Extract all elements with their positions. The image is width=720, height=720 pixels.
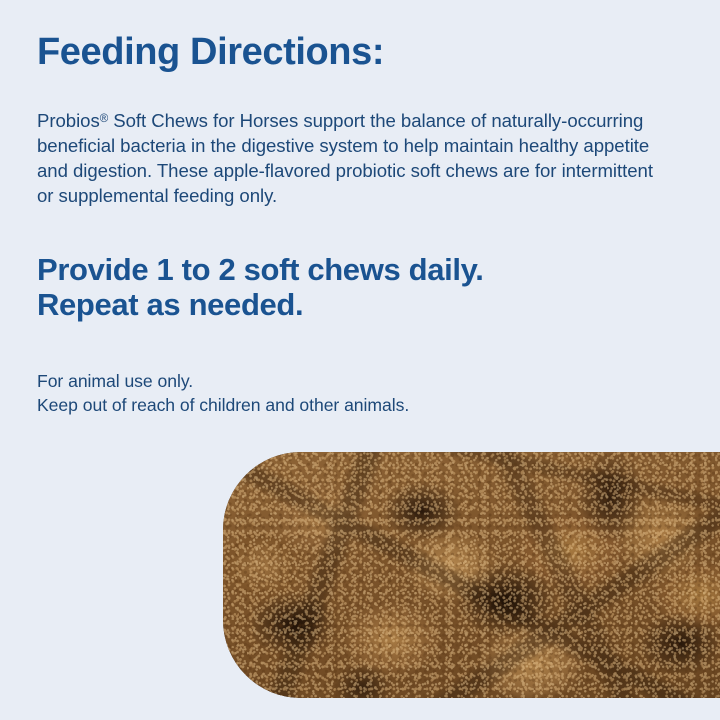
product-photo-vignette bbox=[223, 452, 720, 698]
dosage-callout: Provide 1 to 2 soft chews daily. Repeat … bbox=[37, 252, 483, 322]
warning-notes: For animal use only. Keep out of reach o… bbox=[37, 369, 409, 417]
product-photo bbox=[223, 452, 720, 698]
brand-name: Probios bbox=[37, 110, 100, 131]
dosage-line-1: Provide 1 to 2 soft chews daily. bbox=[37, 252, 483, 287]
dosage-line-2: Repeat as needed. bbox=[37, 287, 483, 322]
feeding-directions-panel: Feeding Directions: Probios® Soft Chews … bbox=[0, 0, 720, 720]
intro-body-text: Soft Chews for Horses support the balanc… bbox=[37, 110, 653, 207]
registered-trademark-icon: ® bbox=[100, 113, 108, 125]
warning-line-2: Keep out of reach of children and other … bbox=[37, 393, 409, 417]
page-title: Feeding Directions: bbox=[37, 31, 384, 74]
warning-line-1: For animal use only. bbox=[37, 369, 409, 393]
intro-paragraph: Probios® Soft Chews for Horses support t… bbox=[37, 108, 662, 209]
